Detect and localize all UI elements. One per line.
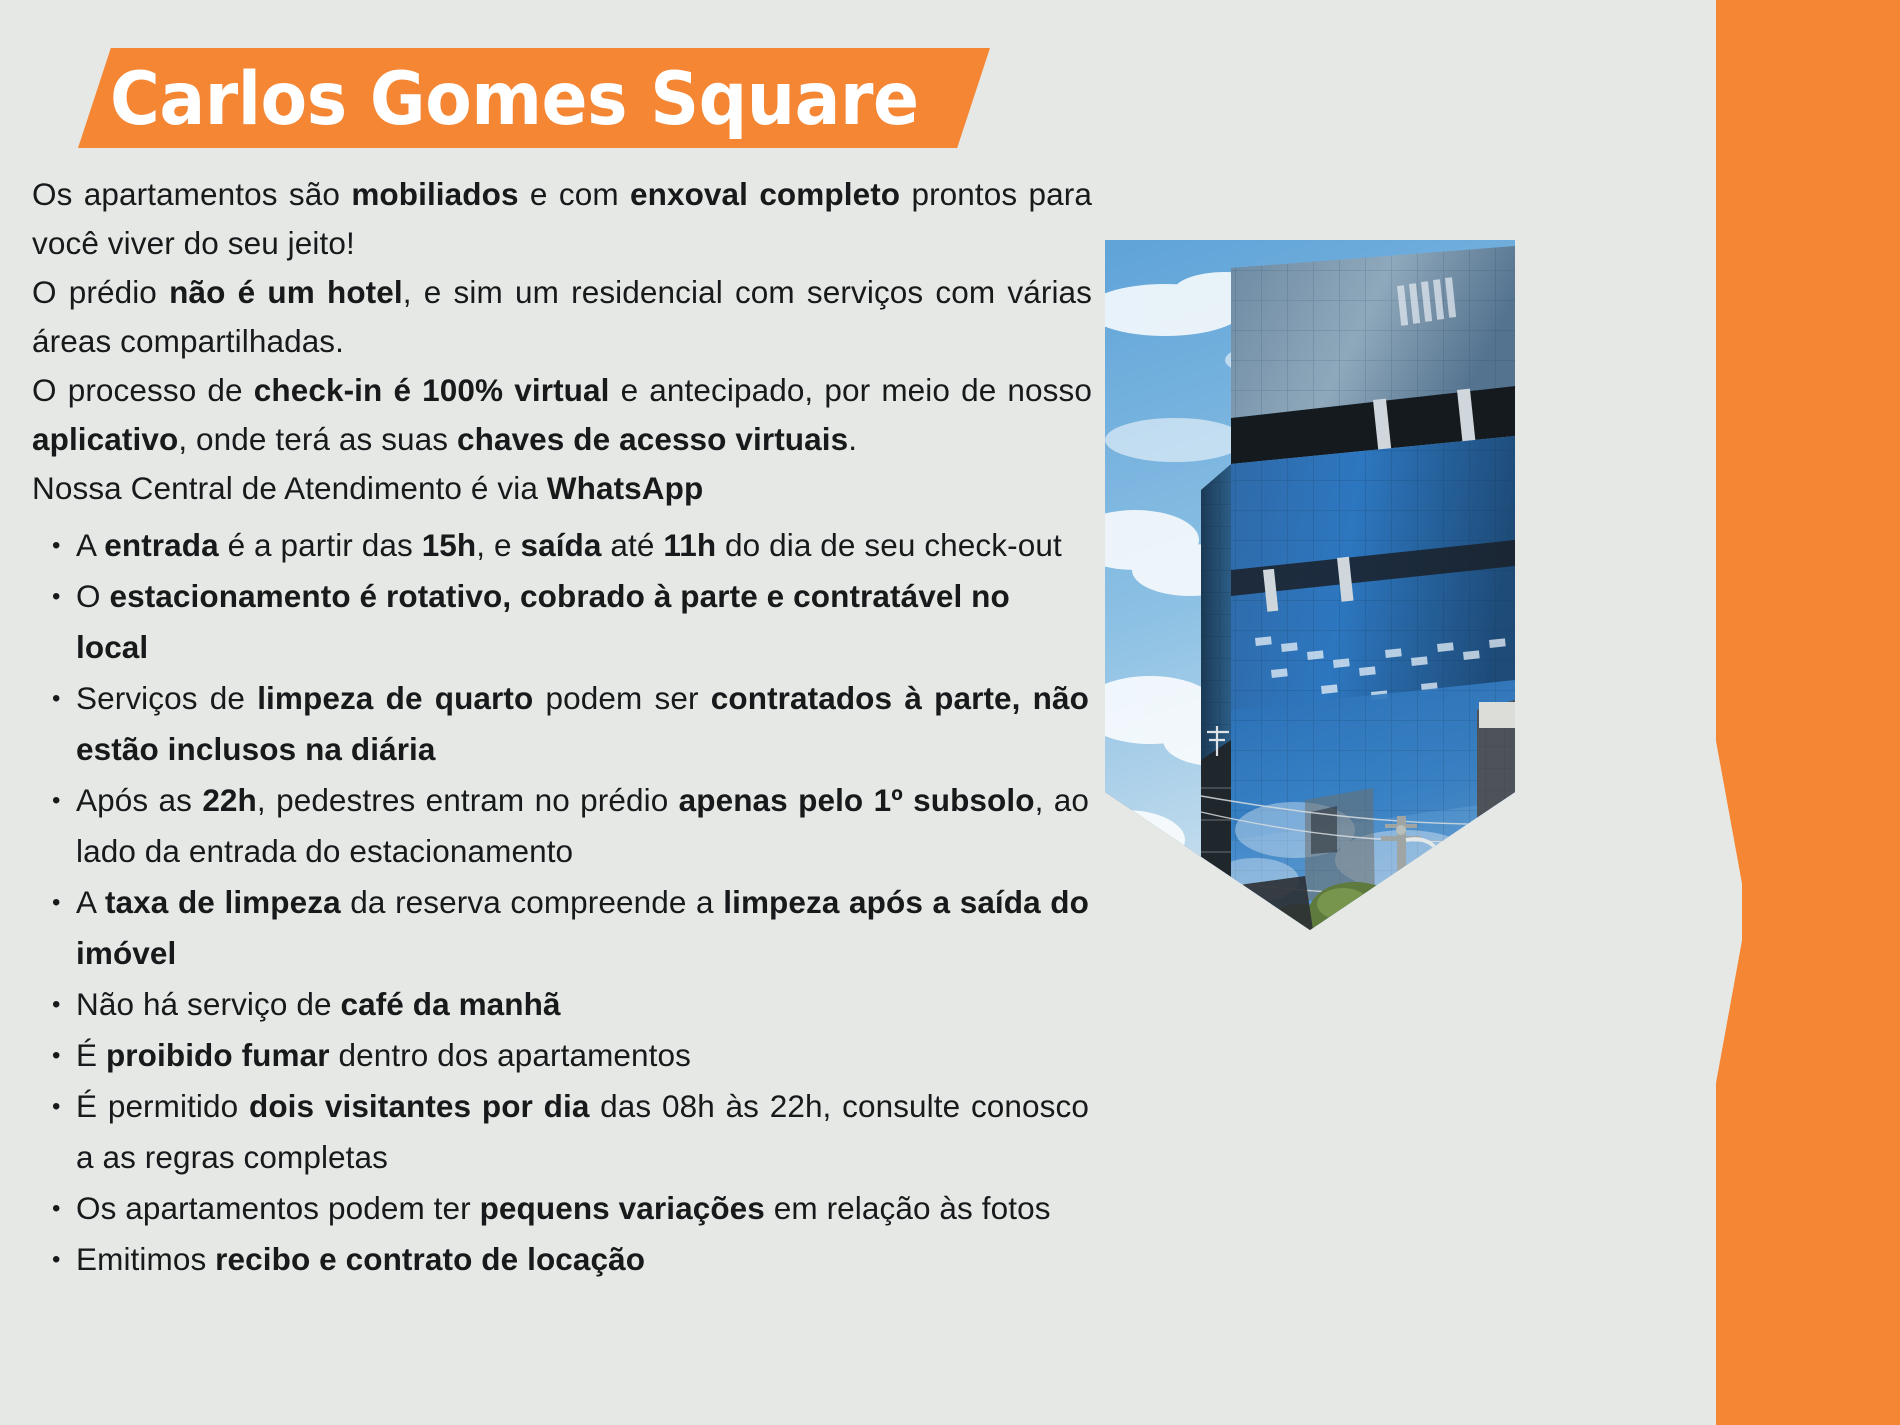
building-photo — [1105, 240, 1515, 930]
rules-list: A entrada é a partir das 15h, e saída at… — [44, 520, 1089, 1285]
page-title: Carlos Gomes Square — [110, 52, 919, 148]
rules-list-item: Não há serviço de café da manhã — [44, 979, 1089, 1030]
rules-list-item: A entrada é a partir das 15h, e saída at… — [44, 520, 1089, 571]
rules-list-item: Serviços de limpeza de quarto podem ser … — [44, 673, 1089, 775]
rules-list-item: É permitido dois visitantes por dia das … — [44, 1081, 1089, 1183]
intro-paragraph: Os apartamentos são mobiliados e com enx… — [32, 170, 1092, 268]
rules-list-item: O estacionamento é rotativo, cobrado à p… — [44, 571, 1089, 673]
intro-paragraph: Nossa Central de Atendimento é via Whats… — [32, 464, 1092, 513]
intro-paragraph: O prédio não é um hotel, e sim um reside… — [32, 268, 1092, 366]
intro-paragraph: O processo de check-in é 100% virtual e … — [32, 366, 1092, 464]
rules-list-item: Emitimos recibo e contrato de locação — [44, 1234, 1089, 1285]
rules-list-item: É proibido fumar dentro dos apartamentos — [44, 1030, 1089, 1081]
intro-text-block: Os apartamentos são mobiliados e com enx… — [32, 170, 1092, 513]
rules-list-item: Os apartamentos podem ter pequens variaç… — [44, 1183, 1089, 1234]
rules-list-item: A taxa de limpeza da reserva compreende … — [44, 877, 1089, 979]
accent-band-notch — [1716, 0, 1742, 1425]
building-photo-artwork — [1105, 240, 1515, 930]
accent-band-body — [1742, 0, 1900, 1425]
rules-list-item: Após as 22h, pedestres entram no prédio … — [44, 775, 1089, 877]
